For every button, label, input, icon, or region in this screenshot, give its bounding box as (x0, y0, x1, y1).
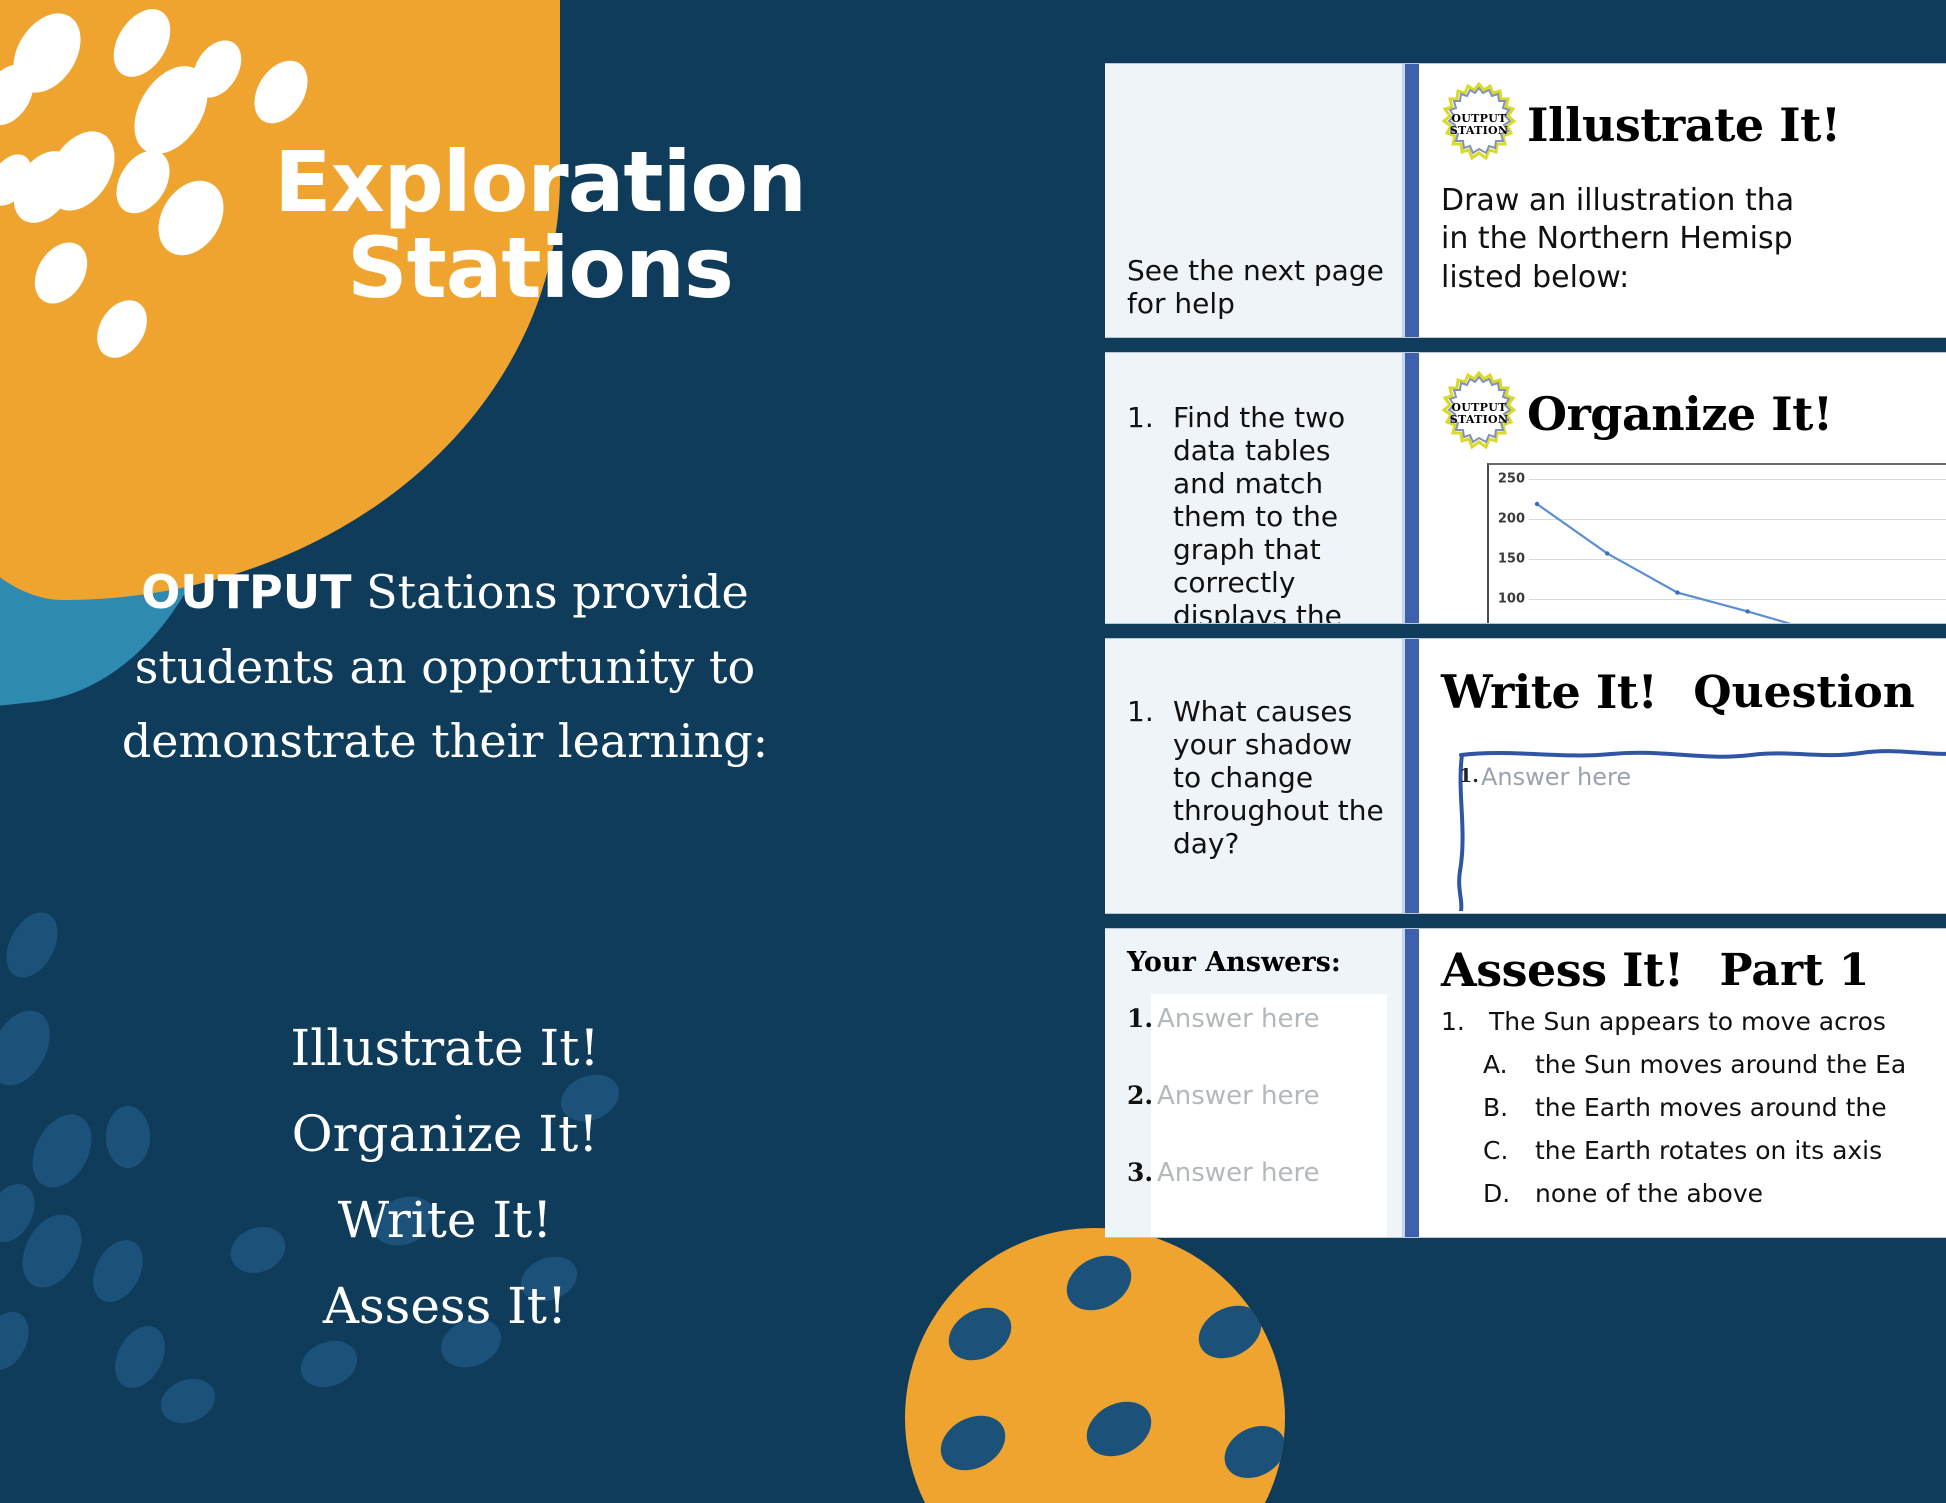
slide-write-right-panel: Write It! Question 1. Answer here (1405, 639, 1946, 913)
slide-illustrate-body-line1: Draw an illustration tha (1441, 182, 1946, 220)
slide-organize-instruction: 1. Find the two data tables and match th… (1127, 401, 1387, 624)
assess-option-b-text: the Earth moves around the (1535, 1093, 1887, 1122)
assess-option-d-letter: D. (1483, 1179, 1535, 1208)
slide-organize-left-panel: 1. Find the two data tables and match th… (1105, 353, 1405, 623)
assess-option-a-text: the Sun moves around the Ea (1535, 1050, 1906, 1079)
slide-assess-right-panel: Assess It! Part 1 1. The Sun appears to … (1405, 929, 1946, 1237)
slide-organize-right-panel: OUTPUT STATION Organize It! 250 200 150 … (1405, 353, 1946, 623)
station-list-item-assess: Assess It! (45, 1263, 845, 1349)
slide-write-left-panel: 1. What causes your shadow to change thr… (1105, 639, 1405, 913)
slide-illustrate-right-panel: OUTPUT STATION Illustrate It! Draw an il… (1405, 64, 1946, 337)
shadow-length-line-chart: 250 200 150 100 50 (1487, 463, 1946, 624)
chart-ytick-100: 100 (1491, 592, 1525, 607)
answer-row-placeholder: Answer here (1157, 1004, 1320, 1034)
badge-line2: STATION (1450, 414, 1509, 426)
assess-option-b[interactable]: B. the Earth moves around the (1441, 1093, 1946, 1122)
slide-write-instruction: 1. What causes your shadow to change thr… (1127, 695, 1387, 860)
slide-illustrate-body: Draw an illustration tha in the Northern… (1441, 182, 1946, 297)
answer-row-number: 3. (1127, 1158, 1157, 1187)
assess-option-c[interactable]: C. the Earth rotates on its axis (1441, 1136, 1946, 1165)
answer-row[interactable]: 2. Answer here (1151, 1081, 1387, 1158)
answer-row-number: 1. (1127, 1004, 1157, 1033)
badge-line2: STATION (1450, 125, 1509, 137)
slide-organize-title: Organize It! (1527, 387, 1833, 441)
write-answer-placeholder: Answer here (1481, 763, 1631, 791)
assess-option-d[interactable]: D. none of the above (1441, 1179, 1946, 1208)
slide-assess-title: Assess It! (1441, 943, 1684, 997)
write-answer-box[interactable]: 1. Answer here (1451, 741, 1946, 911)
page-title-line2: Stations (60, 226, 1020, 312)
slide-organize-instruction-number: 1. (1127, 401, 1173, 624)
slide-illustrate-body-line2: in the Northern Hemisp (1441, 220, 1946, 258)
output-station-badge-icon: OUTPUT STATION (1441, 371, 1517, 457)
chart-ytick-250: 250 (1491, 472, 1525, 487)
intro-lead: OUTPUT (141, 565, 351, 619)
slide-illustrate-body-line3: listed below: (1441, 259, 1946, 297)
output-station-badge-icon: OUTPUT STATION (1441, 82, 1517, 168)
your-answers-sheet[interactable]: 1. Answer here 2. Answer here 3. Answer … (1151, 994, 1387, 1238)
assess-option-d-text: none of the above (1535, 1179, 1763, 1208)
slide-assess-it[interactable]: Your Answers: 1. Answer here 2. Answer h… (1105, 928, 1946, 1238)
intro-paragraph: OUTPUT Stations provide students an oppo… (45, 555, 845, 779)
slide-write-header: Write It! Question (1441, 657, 1946, 719)
slide-assess-header: Assess It! Part 1 (1441, 943, 1946, 997)
chart-ytick-150: 150 (1491, 552, 1525, 567)
chart-ytick-200: 200 (1491, 512, 1525, 527)
assess-option-c-letter: C. (1483, 1136, 1535, 1165)
slide-organize-it[interactable]: 1. Find the two data tables and match th… (1105, 352, 1946, 624)
station-list-item-illustrate: Illustrate It! (45, 1005, 845, 1091)
answer-row-placeholder: Answer here (1157, 1158, 1320, 1188)
slide-illustrate-left-panel: See the next page for help (1105, 64, 1405, 337)
slide-organize-header: OUTPUT STATION Organize It! (1441, 371, 1946, 457)
slide-write-it[interactable]: 1. What causes your shadow to change thr… (1105, 638, 1946, 914)
slide-organize-instruction-text: Find the two data tables and match them … (1173, 401, 1387, 624)
answer-row[interactable]: 1. Answer here (1151, 1004, 1387, 1081)
assess-question-text: The Sun appears to move acros (1489, 1007, 1886, 1036)
station-list: Illustrate It! Organize It! Write It! As… (45, 1005, 845, 1349)
slide-assess-left-panel: Your Answers: 1. Answer here 2. Answer h… (1105, 929, 1405, 1237)
slide-illustrate-title: Illustrate It! (1527, 98, 1841, 152)
slide-preview-strip: See the next page for help OUTPUT STATIO… (1105, 63, 1946, 1252)
assess-option-c-text: the Earth rotates on its axis (1535, 1136, 1882, 1165)
chart-series-line (1529, 465, 1946, 624)
answer-row-placeholder: Answer here (1157, 1081, 1320, 1111)
answer-row-number: 2. (1127, 1081, 1157, 1110)
answer-row[interactable]: 3. Answer here (1151, 1158, 1387, 1235)
station-list-item-write: Write It! (45, 1177, 845, 1263)
slide-write-subtitle: Question (1693, 667, 1914, 718)
page-title: Exploration Stations (60, 140, 1020, 311)
slide-assess-subtitle: Part 1 (1720, 945, 1870, 996)
poster-canvas: Exploration Stations OUTPUT Stations pro… (0, 0, 1946, 1503)
assess-option-b-letter: B. (1483, 1093, 1535, 1122)
slide-write-instruction-text: What causes your shadow to change throug… (1173, 695, 1387, 860)
slide-write-title: Write It! (1441, 665, 1657, 719)
slide-illustrate-note: See the next page for help (1127, 254, 1387, 320)
write-answer-number: 1. (1459, 765, 1479, 787)
assess-question: 1. The Sun appears to move acros (1441, 1007, 1946, 1036)
slide-illustrate-header: OUTPUT STATION Illustrate It! (1441, 82, 1946, 168)
left-content-column: Exploration Stations OUTPUT Stations pro… (0, 0, 1090, 1503)
station-list-item-organize: Organize It! (45, 1091, 845, 1177)
slide-illustrate-it[interactable]: See the next page for help OUTPUT STATIO… (1105, 63, 1946, 338)
assess-option-a-letter: A. (1483, 1050, 1535, 1079)
assess-question-number: 1. (1441, 1007, 1489, 1036)
slide-write-instruction-number: 1. (1127, 695, 1173, 860)
your-answers-heading: Your Answers: (1127, 947, 1387, 978)
assess-option-a[interactable]: A. the Sun moves around the Ea (1441, 1050, 1946, 1079)
page-title-line1: Exploration (60, 140, 1020, 226)
